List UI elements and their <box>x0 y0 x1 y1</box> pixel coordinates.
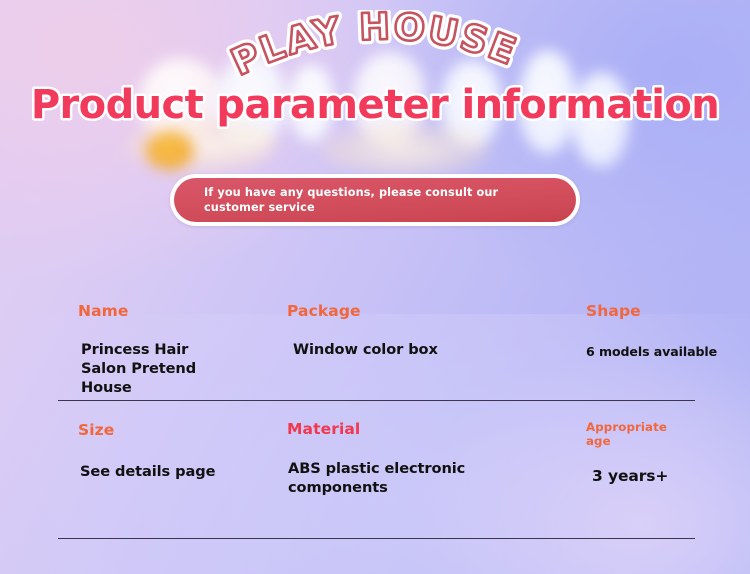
spec-label: Appropriate age <box>586 420 678 448</box>
consult-banner[interactable]: If you have any questions, please consul… <box>170 174 580 226</box>
row-divider <box>58 538 695 539</box>
product-parameter-page: PLAY HOUSE PLAY HOUSE Product parameter … <box>0 0 750 574</box>
consult-banner-fill: If you have any questions, please consul… <box>174 178 576 222</box>
page-title: Product parameter information <box>0 80 750 132</box>
spec-label: Package <box>287 303 480 320</box>
spec-value: Princess Hair Salon Pretend House <box>81 340 230 397</box>
table-row: Name Princess Hair Salon Pretend House P… <box>0 290 750 400</box>
row-divider <box>58 400 695 401</box>
spec-cell-size: Size See details page <box>0 400 230 510</box>
play-house-logo-text: PLAY HOUSE <box>225 10 524 76</box>
spec-label: Size <box>78 422 230 439</box>
spec-value: ABS plastic electronic components <box>288 459 480 497</box>
orange-accent-blob <box>146 132 194 170</box>
spec-cell-material: Material ABS plastic electronic componen… <box>230 400 480 510</box>
play-house-logo: PLAY HOUSE PLAY HOUSE <box>0 10 750 76</box>
spec-value: 6 models available <box>586 342 750 361</box>
consult-banner-text: If you have any questions, please consul… <box>174 185 576 215</box>
spec-value: 3 years+ <box>592 467 750 486</box>
spec-cell-appropriate-age: Appropriate age 3 years+ <box>480 400 750 510</box>
spec-label: Material <box>287 421 480 438</box>
table-row: Size See details page Material ABS plast… <box>0 400 750 510</box>
spec-cell-package: Package Window color box <box>230 290 480 400</box>
spec-cell-shape: Shape 6 models available <box>480 290 750 400</box>
page-title-text: Product parameter information <box>31 82 719 128</box>
spec-label: Shape <box>586 303 750 320</box>
svg-text:PLAY HOUSE: PLAY HOUSE <box>225 10 524 76</box>
spec-cell-name: Name Princess Hair Salon Pretend House <box>0 290 230 400</box>
spec-value: See details page <box>80 462 230 481</box>
spec-value: Window color box <box>293 340 480 359</box>
spec-label: Name <box>78 303 230 320</box>
